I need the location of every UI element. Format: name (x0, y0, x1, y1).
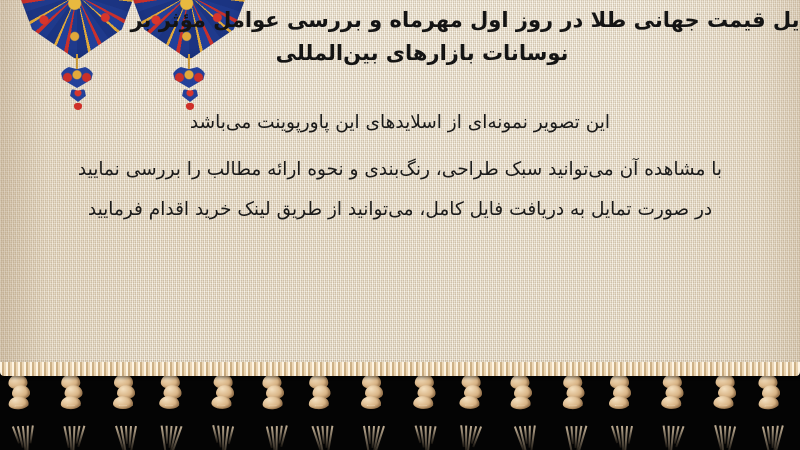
fringe-tassel (150, 371, 196, 450)
carpet-selvedge-edge (0, 362, 800, 376)
fringe-strand (772, 426, 774, 448)
fringe-tassel (404, 371, 450, 450)
fringe-tassel (253, 371, 301, 450)
fringe-tassel (652, 371, 698, 450)
slide-body-text: این تصویر نمونه‌ای از اسلایدهای این پاور… (6, 108, 794, 225)
fringe-tassel (0, 371, 47, 450)
fringe-strand (724, 426, 726, 444)
carpet-fringe-band (0, 368, 800, 450)
fringe-strand (529, 426, 531, 448)
title-line-1: یل قیمت جهانی طلا در روز اول مهرماه و بر… (52, 4, 800, 37)
title-line-2: نوسانات بازارهای بین‌المللی (52, 37, 792, 70)
fringe-tassel (501, 371, 549, 450)
fringe-tassel (105, 372, 149, 450)
fringe-tassel (300, 371, 346, 450)
body-line-1: این تصویر نمونه‌ای از اسلایدهای این پاور… (6, 108, 794, 138)
fringe-tassel (749, 371, 797, 450)
fringe-tassel (554, 371, 600, 450)
slide-title: یل قیمت جهانی طلا در روز اول مهرماه و بر… (52, 4, 792, 69)
body-line-3: در صورت تمایل به دریافت فایل کامل، می‌تو… (6, 195, 794, 225)
fringe-strand (465, 426, 467, 450)
fringe-tassel (52, 371, 98, 450)
fringe-strand (26, 426, 28, 450)
fringe-tassel (353, 372, 397, 450)
fringe-tassel (201, 371, 249, 450)
fringe-tassel (449, 371, 497, 450)
fringe-strand (222, 426, 224, 450)
fringe-tassel (703, 371, 751, 450)
fringe-strand (275, 426, 277, 450)
body-line-2: با مشاهده آن می‌توانید سبک طراحی، رنگ‌بن… (6, 155, 794, 185)
presentation-slide: یل قیمت جهانی طلا در روز اول مهرماه و بر… (0, 0, 800, 450)
fringe-tassel (601, 372, 645, 450)
